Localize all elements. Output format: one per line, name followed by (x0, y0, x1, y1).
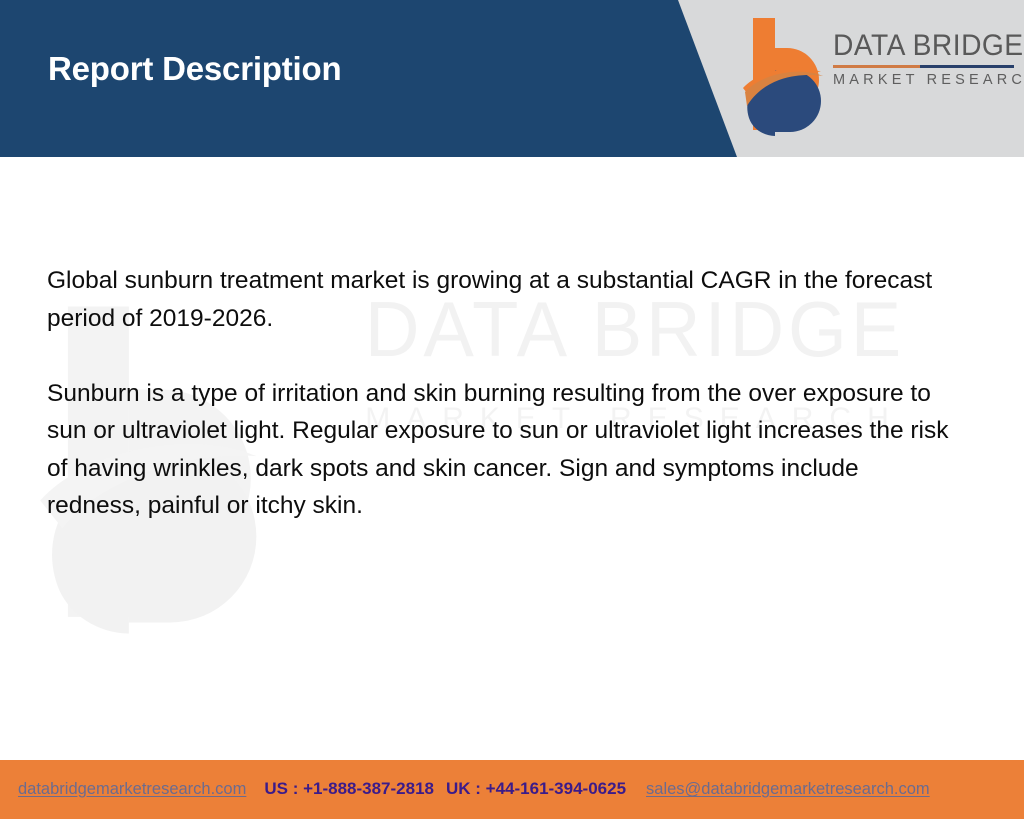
logo-subtitle: MARKET RESEARCH (833, 72, 1015, 88)
report-description-body: Global sunburn treatment market is growi… (47, 262, 957, 525)
footer-website-link[interactable]: databridgemarketresearch.com (18, 780, 246, 799)
paragraph-1: Global sunburn treatment market is growi… (47, 262, 957, 337)
footer-email-link[interactable]: sales@databridgemarketresearch.com (646, 780, 930, 799)
logo-wordmark: DATA BRIDGE MARKET RESEARCH (833, 30, 1015, 88)
page-title: Report Description (48, 50, 341, 88)
brand-logo: DATA BRIDGE MARKET RESEARCH (735, 14, 1015, 142)
footer-us-phone[interactable]: US : +1-888-387-2818 (264, 779, 434, 799)
footer-bar: databridgemarketresearch.com US : +1-888… (0, 760, 1024, 819)
data-bridge-b-logo-icon (735, 14, 827, 140)
logo-title: DATA BRIDGE (833, 30, 1004, 62)
logo-divider-rule (833, 65, 1014, 68)
slide: Report Description DATA BRIDG (0, 0, 1024, 819)
paragraph-2: Sunburn is a type of irritation and skin… (47, 375, 957, 525)
paragraph-spacer (47, 337, 957, 375)
footer-uk-phone[interactable]: UK : +44-161-394-0625 (446, 779, 626, 799)
footer-contact-row: databridgemarketresearch.com US : +1-888… (18, 779, 1014, 799)
